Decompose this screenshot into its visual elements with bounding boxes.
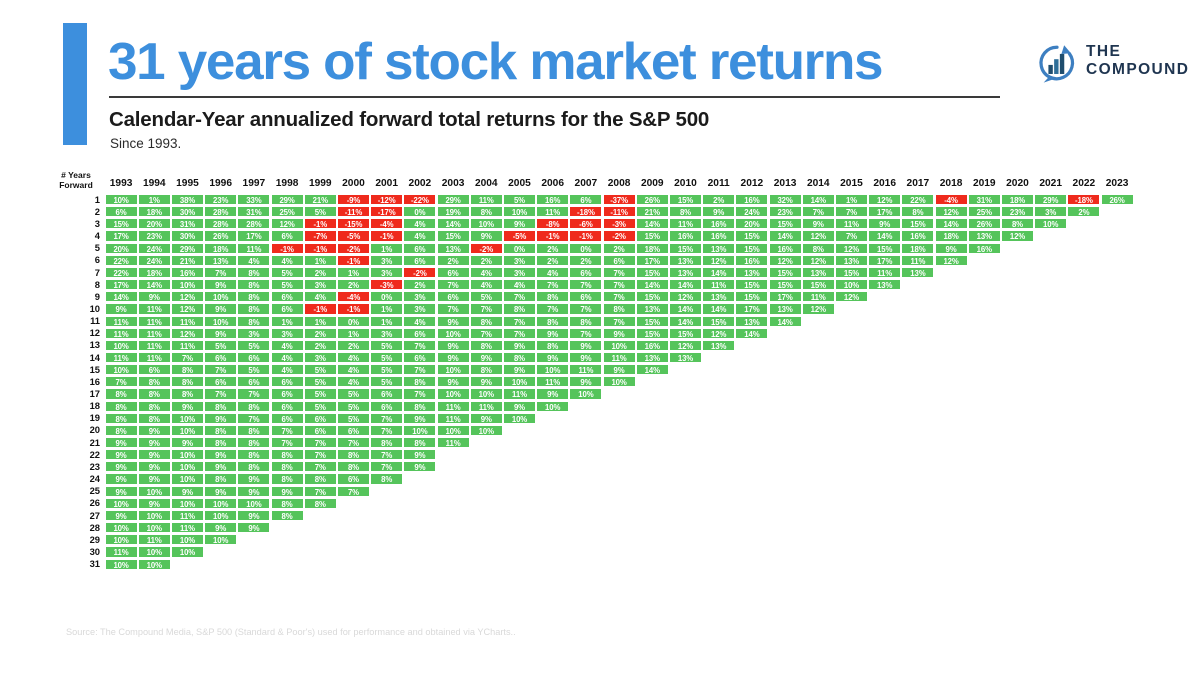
heatmap-cell: 13% [901,267,934,278]
heatmap-cell: 9% [204,461,237,472]
heatmap-cell: 8% [569,316,602,327]
row-header-6: 6 [60,254,100,266]
column-header-2017: 2017 [901,178,934,190]
column-header-2020: 2020 [1001,178,1034,190]
heatmap-cell: 18% [1001,194,1034,205]
heatmap-cell: 7% [304,486,337,497]
heatmap-cell: 12% [802,255,835,266]
heatmap-cell: 7% [437,303,470,314]
heatmap-cell: 15% [669,328,702,339]
row-header-5: 5 [60,242,100,254]
heatmap-cell: 9% [138,291,171,302]
heatmap-cell: 4% [237,255,270,266]
heatmap-cell: 11% [437,401,470,412]
heatmap-cell: 12% [171,328,204,339]
row-header-19: 19 [60,412,100,424]
heatmap-cell: 13% [735,316,768,327]
heatmap-cell: 12% [802,230,835,241]
heatmap-cell: 9% [105,486,138,497]
row-header-1: 1 [60,194,100,206]
heatmap-cell: 11% [105,546,138,557]
heatmap-cell: 1% [138,194,171,205]
heatmap-cell: 13% [802,267,835,278]
heatmap-cell: 14% [735,328,768,339]
column-header-2000: 2000 [337,178,370,190]
heatmap-cell: 4% [271,352,304,363]
heatmap-cell: 1% [337,328,370,339]
column-header-2014: 2014 [802,178,835,190]
heatmap-cell: 17% [735,303,768,314]
row-header-13: 13 [60,339,100,351]
heatmap-cell: 7% [569,279,602,290]
heatmap-cell: 16% [901,230,934,241]
column-header-2022: 2022 [1067,178,1100,190]
heatmap-cell: 10% [138,522,171,533]
heatmap-cell: 12% [935,255,968,266]
heatmap-cell: 8% [237,437,270,448]
source-note: Source: The Compound Media, S&P 500 (Sta… [66,627,516,637]
heatmap-cell: 8% [271,461,304,472]
heatmap-cell: 4% [403,230,436,241]
heatmap-cell: 8% [470,206,503,217]
heatmap-cell: 18% [636,243,669,254]
heatmap-cell: 18% [901,243,934,254]
heatmap-cell: 26% [968,218,1001,229]
heatmap-cell: 15% [802,279,835,290]
heatmap-cell: 23% [769,206,802,217]
heatmap-cell: 12% [835,243,868,254]
heatmap-cell: 0% [403,206,436,217]
heatmap-cell: 6% [271,376,304,387]
heatmap-cell: 14% [868,230,901,241]
heatmap-cell: 23% [204,194,237,205]
heatmap-cell: 1% [304,316,337,327]
heatmap-cell: 5% [204,340,237,351]
heatmap-cell: 12% [702,328,735,339]
heatmap-cell: 11% [138,328,171,339]
heatmap-cell: 14% [105,291,138,302]
heatmap-cell: 15% [735,230,768,241]
heatmap-cell: 16% [769,243,802,254]
row-header-26: 26 [60,497,100,509]
heatmap-cell: 9% [138,498,171,509]
row-header-8: 8 [60,279,100,291]
heatmap-cell: 16% [171,267,204,278]
heatmap-cell: 15% [636,316,669,327]
heatmap-cell: 18% [138,206,171,217]
heatmap-cell: -3% [603,218,636,229]
heatmap-cell: 3% [271,328,304,339]
heatmap-cell: 7% [171,352,204,363]
heatmap-cell: 6% [204,352,237,363]
heatmap-cell: 8% [370,437,403,448]
heatmap-cell: 12% [171,303,204,314]
heatmap-cell: -22% [403,194,436,205]
heatmap-cell: 10% [437,364,470,375]
heatmap-cell: 5% [337,401,370,412]
heatmap-cell: 3% [1034,206,1067,217]
heatmap-cell: 15% [868,243,901,254]
heatmap-cell: 25% [968,206,1001,217]
heatmap-cell: 6% [370,388,403,399]
heatmap-cell: 13% [702,340,735,351]
heatmap-cell: 11% [901,255,934,266]
heatmap-cell: 7% [337,437,370,448]
heatmap-cell: 8% [337,449,370,460]
row-header-4: 4 [60,230,100,242]
heatmap-cell: 9% [204,413,237,424]
heatmap-cell: 9% [536,328,569,339]
heatmap-cell: 12% [935,206,968,217]
heatmap-cell: 8% [403,401,436,412]
heatmap-cell: -2% [337,243,370,254]
row-header-20: 20 [60,424,100,436]
heatmap-cell: 2% [403,279,436,290]
heatmap-cell: 12% [271,218,304,229]
row-header-12: 12 [60,327,100,339]
column-header-2011: 2011 [702,178,735,190]
heatmap-cell: 17% [868,206,901,217]
heatmap-cell: 15% [636,230,669,241]
heatmap-cell: 10% [204,498,237,509]
heatmap-cell: 10% [171,425,204,436]
heatmap-cell: 9% [204,449,237,460]
heatmap-cell: 10% [171,473,204,484]
heatmap-cell: 5% [271,267,304,278]
heatmap-cell: 11% [536,376,569,387]
heatmap-cell: 9% [470,352,503,363]
heatmap-cell: 9% [868,218,901,229]
heatmap-cell: 10% [105,340,138,351]
heatmap-cell: 9% [935,243,968,254]
heatmap-cell: 10% [470,425,503,436]
heatmap-cell: 18% [204,243,237,254]
heatmap-cell: 7% [204,388,237,399]
heatmap-cell: 8% [536,316,569,327]
heatmap-cell: 9% [171,401,204,412]
heatmap-cell: 10% [138,510,171,521]
heatmap-cell: 4% [337,364,370,375]
heatmap-cell: 8% [105,401,138,412]
heatmap-cell: 22% [105,267,138,278]
heatmap-cell: 4% [337,376,370,387]
heatmap-cell: 24% [138,243,171,254]
row-header-27: 27 [60,510,100,522]
heatmap-cell: 10% [204,291,237,302]
heatmap-cell: 6% [271,291,304,302]
heatmap-cell: -2% [403,267,436,278]
heatmap-cell: 9% [237,510,270,521]
heatmap-cell: 22% [901,194,934,205]
heatmap-cell: 0% [569,243,602,254]
heatmap-cell: 10% [536,401,569,412]
heatmap-cell: 8% [105,388,138,399]
heatmap-cell: 4% [403,218,436,229]
heatmap-cell: 8% [138,388,171,399]
heatmap-cell: 10% [171,546,204,557]
heatmap-cell: 5% [304,376,337,387]
heatmap-cell: 10% [204,534,237,545]
heatmap-cell: 10% [105,559,138,570]
heatmap-cell: 6% [403,328,436,339]
heatmap-cell: 9% [403,413,436,424]
heatmap-cell: 7% [237,388,270,399]
heatmap-cell: 30% [171,206,204,217]
heatmap-cell: -11% [603,206,636,217]
heatmap-cell: 8% [271,510,304,521]
heatmap-cell: 9% [470,413,503,424]
heatmap-cell: 5% [470,291,503,302]
heatmap-cell: 6% [403,255,436,266]
heatmap-cell: 7% [204,364,237,375]
heatmap-cell: -37% [603,194,636,205]
heatmap-cell: 7% [470,303,503,314]
heatmap-cell: -8% [536,218,569,229]
heatmap-cell: 9% [603,364,636,375]
heatmap-cell: 1% [370,303,403,314]
heatmap-cell: 7% [503,316,536,327]
heatmap-cell: 9% [105,473,138,484]
heatmap-cell: 4% [470,279,503,290]
heatmap-cell: 8% [138,376,171,387]
column-header-2012: 2012 [735,178,768,190]
heatmap-cell: 13% [669,352,702,363]
heatmap-cell: 13% [702,291,735,302]
heatmap-cell: 8% [536,340,569,351]
heatmap-cell: 2% [702,194,735,205]
heatmap-cell: 11% [835,218,868,229]
heatmap-cell: 11% [171,522,204,533]
heatmap-cell: 10% [105,194,138,205]
heatmap-cell: 5% [370,352,403,363]
heatmap-cell: 4% [271,340,304,351]
heatmap-cell: 5% [237,364,270,375]
heatmap-cell: 16% [735,255,768,266]
heatmap-cell: 8% [901,206,934,217]
heatmap-cell: 8% [403,437,436,448]
heatmap-cell: 14% [669,279,702,290]
row-header-2: 2 [60,206,100,218]
heatmap-cell: 6% [237,376,270,387]
heatmap-cell: 10% [171,279,204,290]
heatmap-cell: -9% [337,194,370,205]
heatmap-cell: 26% [1101,194,1134,205]
heatmap-cell: 15% [735,279,768,290]
heatmap-cell: 10% [503,376,536,387]
heatmap-cell: 5% [237,340,270,351]
heatmap-cell: 29% [171,243,204,254]
heatmap-cell: 13% [702,243,735,254]
heatmap-cell: 6% [569,194,602,205]
heatmap-cell: 7% [835,230,868,241]
heatmap-cell: 12% [835,291,868,302]
row-header-31: 31 [60,558,100,570]
heatmap-cell: 15% [901,218,934,229]
heatmap-cell: 16% [636,340,669,351]
heatmap-cell: 33% [237,194,270,205]
heatmap-cell: 0% [503,243,536,254]
row-header-24: 24 [60,473,100,485]
heatmap-cell: 10% [204,316,237,327]
heatmap-cell: 15% [769,267,802,278]
heatmap-cell: 8% [138,413,171,424]
heatmap-cell: 9% [138,473,171,484]
heatmap-cell: 10% [603,376,636,387]
heatmap-cell: 2% [536,243,569,254]
heatmap-cell: 14% [769,316,802,327]
heatmap-cell: 8% [503,303,536,314]
heatmap-cell: 7% [802,206,835,217]
heatmap-cell: 13% [204,255,237,266]
heatmap-cell: 11% [105,328,138,339]
row-header-11: 11 [60,315,100,327]
heatmap-cell: 13% [437,243,470,254]
heatmap-cell: -7% [304,230,337,241]
heatmap-cell: 6% [138,364,171,375]
corner-label-line-1: # Years [61,170,91,180]
column-header-2005: 2005 [503,178,536,190]
heatmap-cell: 8% [470,364,503,375]
heatmap-cell: 16% [536,194,569,205]
column-header-2015: 2015 [835,178,868,190]
heatmap-cell: 0% [337,316,370,327]
heatmap-cell: 1% [271,316,304,327]
row-header-9: 9 [60,291,100,303]
heatmap-cell: 5% [304,388,337,399]
corner-label-line-2: Forward [59,180,93,190]
heatmap-cell: 9% [237,522,270,533]
heatmap-cell: 16% [669,230,702,241]
heatmap-cell: 3% [503,267,536,278]
heatmap-cell: 16% [735,194,768,205]
column-header-2010: 2010 [669,178,702,190]
heatmap-cell: 9% [503,218,536,229]
heatmap-cell: 11% [868,267,901,278]
column-header-2009: 2009 [636,178,669,190]
heatmap-cell: 10% [171,449,204,460]
heatmap-cell: 8% [204,437,237,448]
heatmap-cell: 11% [138,352,171,363]
heatmap-cell: 23% [138,230,171,241]
heatmap-cell: 1% [835,194,868,205]
heatmap-cell: 21% [636,206,669,217]
heatmap-cell: 11% [536,206,569,217]
heatmap-cell: 9% [603,328,636,339]
heatmap-cell: 10% [503,206,536,217]
heatmap-cell: 29% [271,194,304,205]
heatmap-cell: 7% [603,267,636,278]
heatmap-cell: -1% [304,243,337,254]
heatmap-cell: 16% [702,230,735,241]
heatmap-cell: 15% [669,243,702,254]
column-header-2002: 2002 [403,178,436,190]
heatmap-cell: 5% [370,376,403,387]
heatmap-cell: -11% [337,206,370,217]
heatmap-cell: 5% [304,401,337,412]
heatmap-cell: 8% [105,425,138,436]
heatmap-cell: 11% [470,401,503,412]
heatmap-cell: -2% [603,230,636,241]
heatmap-cell: 4% [503,279,536,290]
heatmap-cell: 3% [237,328,270,339]
heatmap-cell: 10% [237,498,270,509]
heatmap-cell: -12% [370,194,403,205]
heatmap-cell: 7% [603,279,636,290]
heatmap-cell: 31% [171,218,204,229]
heatmap-cell: 7% [370,461,403,472]
heatmap-cell: 12% [669,340,702,351]
heatmap-cell: 13% [769,303,802,314]
column-header-2023: 2023 [1101,178,1134,190]
heatmap-cell: 3% [370,267,403,278]
heatmap-cell: 7% [304,449,337,460]
heatmap-cell: 9% [437,352,470,363]
heatmap-cell: 10% [105,534,138,545]
heatmap-cell: 2% [437,255,470,266]
heatmap-cell: 6% [569,267,602,278]
heatmap-cell: 9% [437,376,470,387]
heatmap-cell: -6% [569,218,602,229]
heatmap-cell: -1% [370,230,403,241]
heatmap-cell: 15% [636,291,669,302]
heatmap-cell: 15% [735,243,768,254]
heatmap-cell: 9% [237,486,270,497]
heatmap-cell: 11% [669,218,702,229]
heatmap-cell: 16% [968,243,1001,254]
column-header-2021: 2021 [1034,178,1067,190]
heatmap-cell: 9% [105,510,138,521]
heatmap-cell: 11% [237,243,270,254]
heatmap-cell: 7% [569,303,602,314]
heatmap-cell: 24% [735,206,768,217]
heatmap-cell: 14% [636,218,669,229]
heatmap-cell: 7% [337,486,370,497]
row-header-16: 16 [60,376,100,388]
heatmap-cell: -1% [337,255,370,266]
row-header-3: 3 [60,218,100,230]
heatmap-cell: 8% [304,473,337,484]
heatmap-cell: 2% [569,255,602,266]
heatmap-cell: 15% [105,218,138,229]
heatmap-cell: 9% [503,364,536,375]
column-header-1998: 1998 [271,178,304,190]
heatmap-cell: 8% [237,267,270,278]
heatmap-cell: 7% [503,328,536,339]
heatmap-cell: 7% [536,279,569,290]
heatmap-cell: 9% [503,340,536,351]
heatmap-cell: 10% [171,498,204,509]
heatmap-cell: -3% [370,279,403,290]
heatmap-cell: 9% [403,449,436,460]
heatmap-cell: 8% [237,425,270,436]
heatmap-cell: 13% [669,267,702,278]
heatmap-cell: 14% [769,230,802,241]
heatmap-cell: -1% [536,230,569,241]
heatmap-cell: 15% [835,267,868,278]
heatmap-cell: 20% [138,218,171,229]
heatmap-cell: 2% [1067,206,1100,217]
heatmap-cell: 5% [337,388,370,399]
heatmap-cell: 6% [304,413,337,424]
heatmap-cell: 2% [337,279,370,290]
heatmap-cell: 7% [304,461,337,472]
heatmap-cell: 8% [802,243,835,254]
heatmap-cell: 3% [403,291,436,302]
heatmap-cell: 12% [669,291,702,302]
heatmap-cell: 4% [470,267,503,278]
heatmap-cell: 6% [403,243,436,254]
column-header-2018: 2018 [935,178,968,190]
